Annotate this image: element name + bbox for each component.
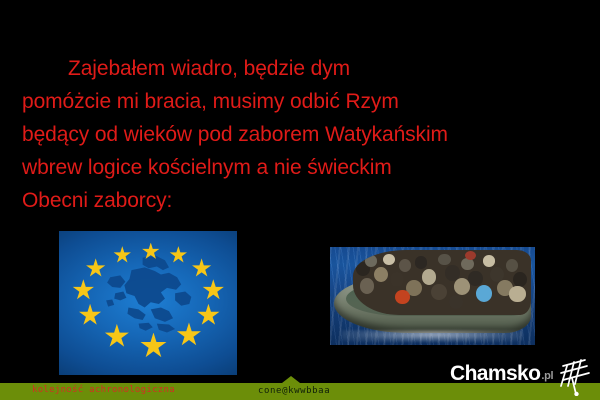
caption-line-4: wbrew logice kościelnym a nie świeckim — [0, 151, 600, 184]
eu-star-1 — [142, 243, 160, 261]
caption-text-block: Zajebałem wiadro, będzie dym pomóżcie mi… — [0, 52, 600, 217]
eu-star-9 — [79, 304, 102, 327]
eu-star-7 — [140, 333, 167, 360]
sea-foam — [342, 330, 522, 342]
eu-star-4 — [202, 279, 224, 301]
caption-line-1: Zajebałem wiadro, będzie dym — [0, 52, 600, 85]
eu-star-3 — [192, 258, 212, 278]
bottom-bar: kolejność achronologiczna cone@kwwbbaa — [0, 383, 600, 400]
bar-notch-triangle — [282, 376, 300, 383]
fly-swatter-icon — [555, 356, 595, 396]
bar-left-label: kolejność achronologiczna — [32, 385, 175, 395]
watermark-tld: .pl — [541, 368, 553, 384]
watermark-brand: Chamsko — [450, 363, 540, 384]
crowd-of-people — [353, 250, 531, 315]
caption-line-5: Obecni zaborcy: — [0, 184, 600, 217]
eu-star-12 — [113, 246, 131, 264]
bar-author-label: cone@kwwbbaa — [258, 386, 330, 396]
eu-star-6 — [176, 322, 201, 347]
migrant-boat-image — [330, 247, 535, 345]
eu-star-11 — [86, 258, 106, 278]
eu-star-2 — [169, 246, 187, 264]
meme-image: Zajebałem wiadro, będzie dym pomóżcie mi… — [0, 0, 600, 400]
caption-line-3: będący od wieków pod zaborem Watykańskim — [0, 118, 600, 151]
eu-star-10 — [72, 279, 94, 301]
eu-star-8 — [104, 324, 129, 349]
caption-line-2: pomóżcie mi bracia, musimy odbić Rzym — [0, 85, 600, 118]
european-union-flag-image — [59, 231, 237, 375]
